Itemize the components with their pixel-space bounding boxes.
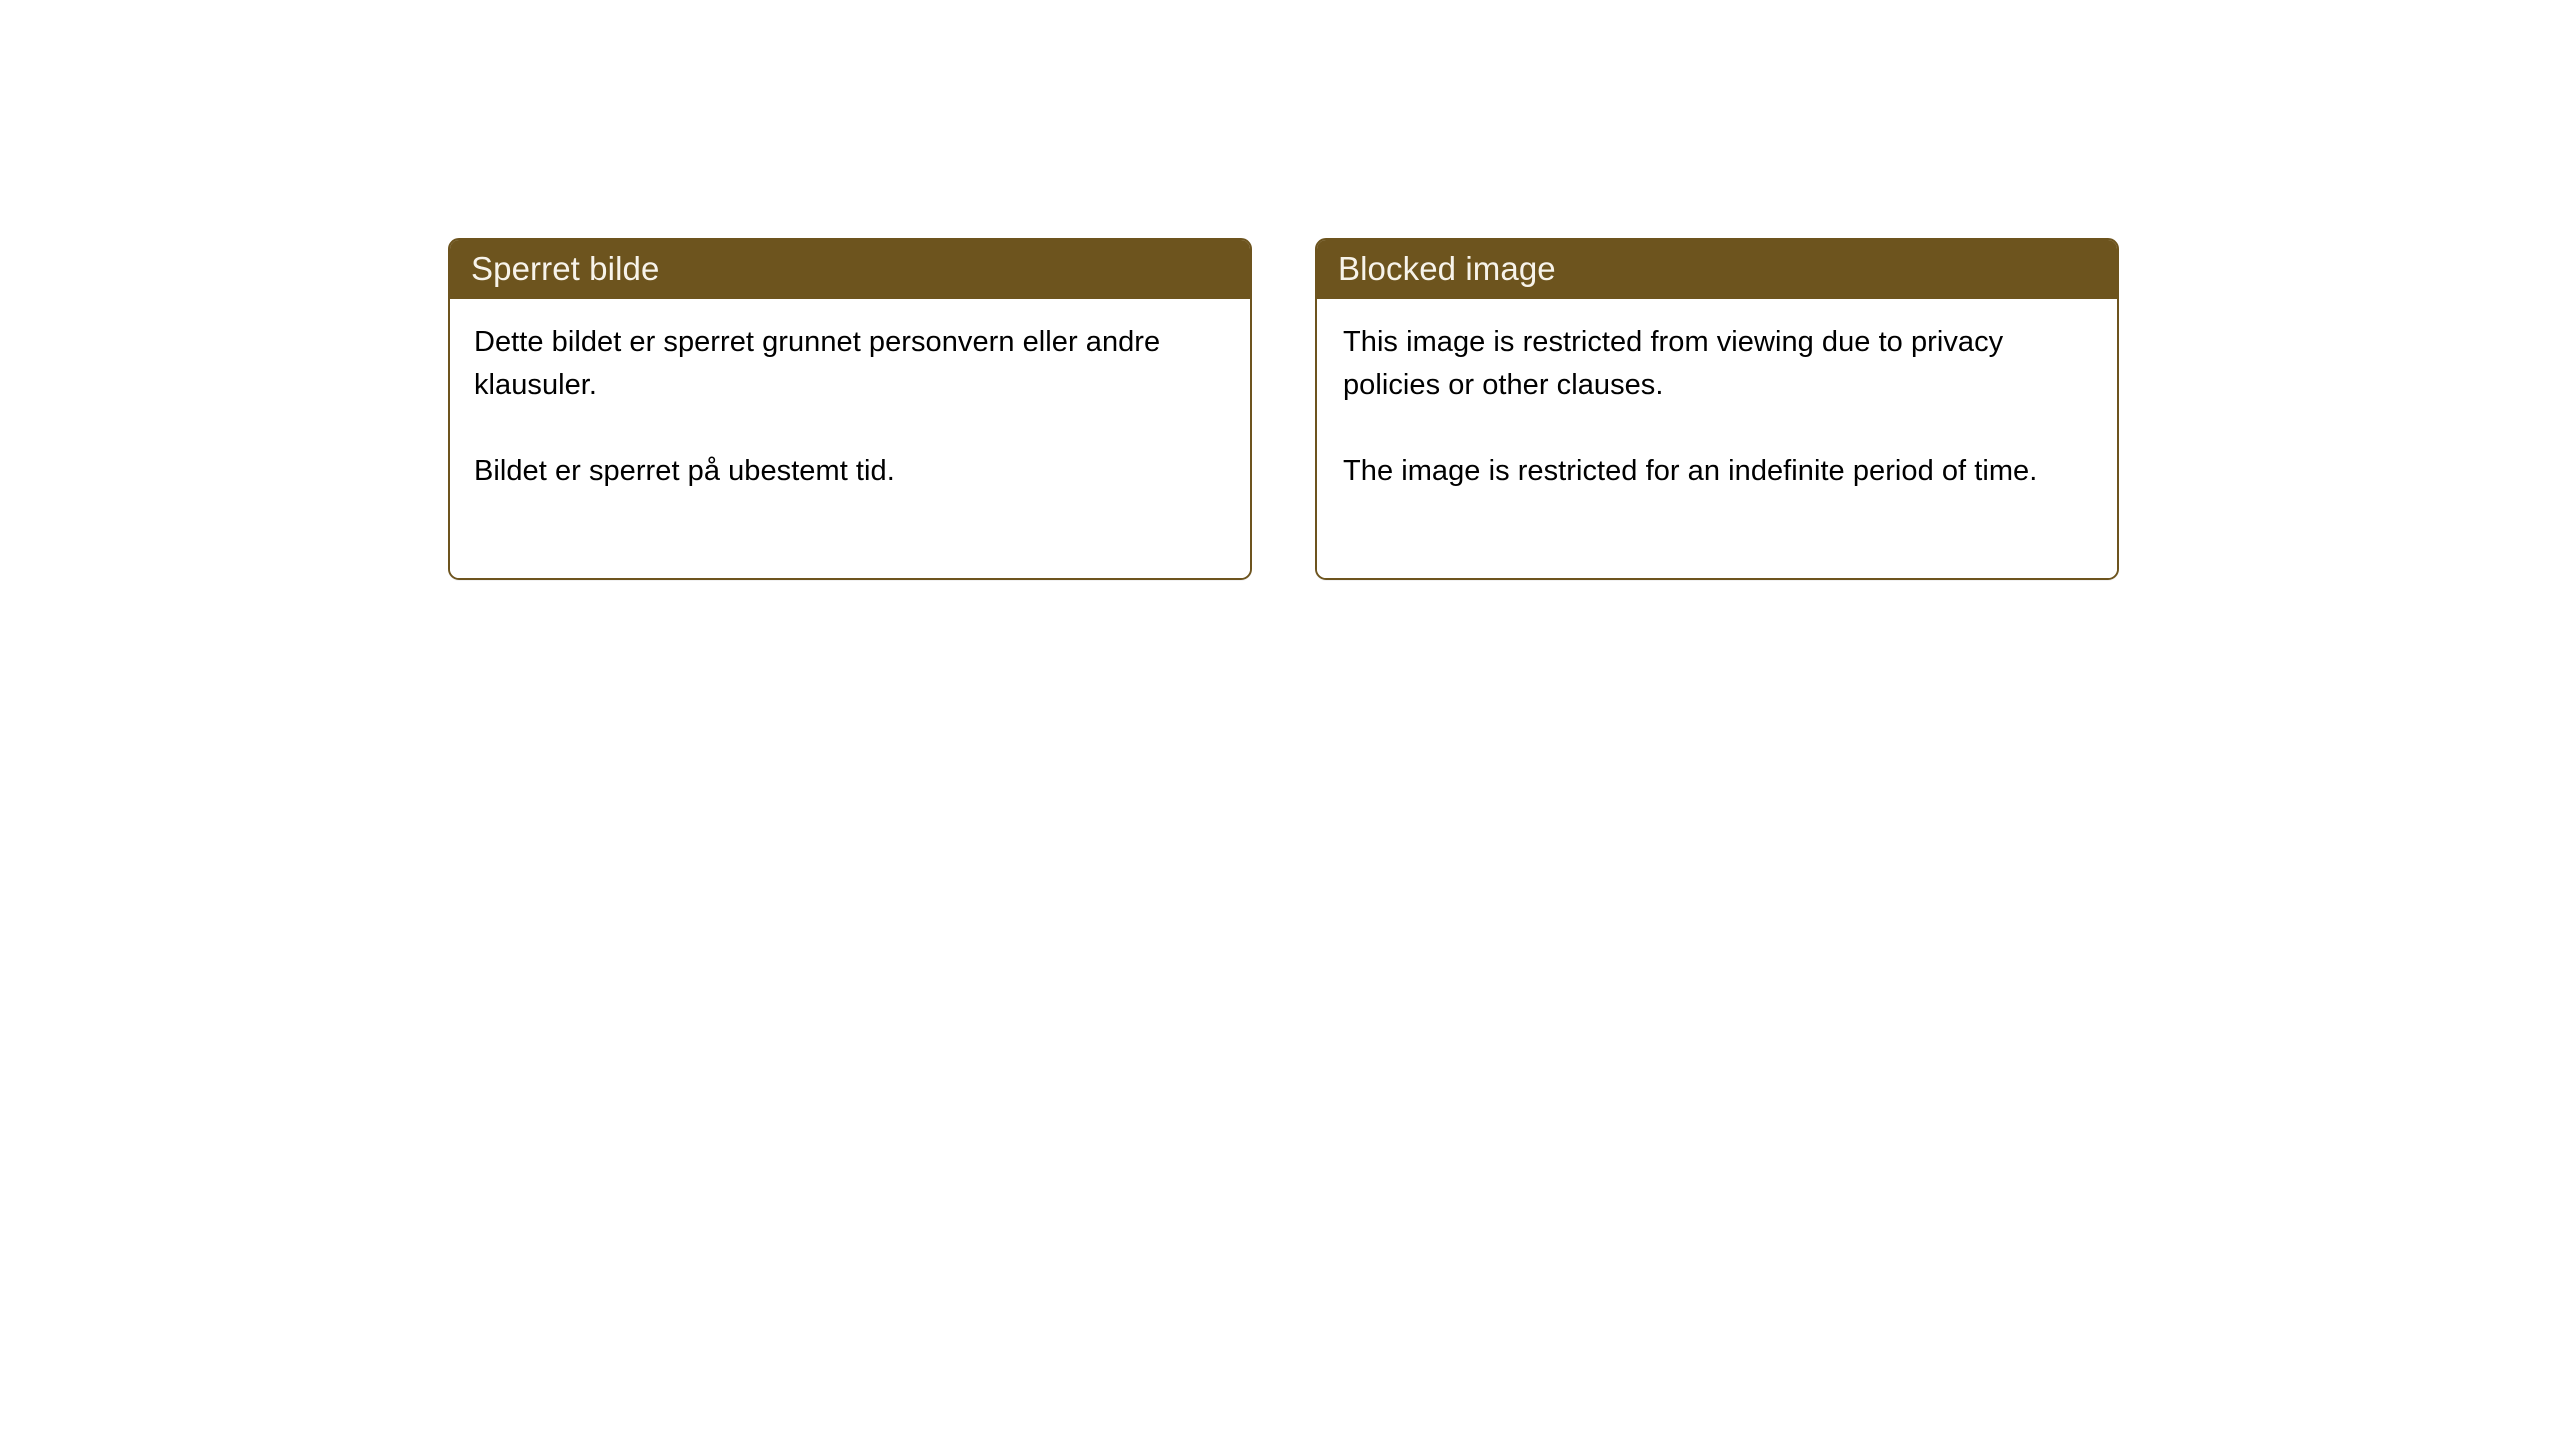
card-title-en: Blocked image [1338, 250, 1556, 288]
card-body-no: Dette bildet er sperret grunnet personve… [450, 299, 1250, 578]
card-paragraph-no-2: Bildet er sperret på ubestemt tid. [474, 450, 1226, 493]
card-paragraph-en-1: This image is restricted from viewing du… [1343, 321, 2097, 407]
card-paragraph-no-1: Dette bildet er sperret grunnet personve… [474, 321, 1226, 407]
card-header-en: Blocked image [1316, 239, 2118, 299]
blocked-image-notice-card-no: Sperret bilde Dette bildet er sperret gr… [448, 238, 1252, 580]
card-body-en: This image is restricted from viewing du… [1317, 299, 2117, 578]
card-title-no: Sperret bilde [471, 250, 659, 288]
page-root: Sperret bilde Dette bildet er sperret gr… [0, 0, 2560, 1440]
card-header-no: Sperret bilde [449, 239, 1251, 299]
card-paragraph-en-2: The image is restricted for an indefinit… [1343, 450, 2097, 493]
notice-card-group: Sperret bilde Dette bildet er sperret gr… [448, 238, 2119, 580]
blocked-image-notice-card-en: Blocked image This image is restricted f… [1315, 238, 2119, 580]
